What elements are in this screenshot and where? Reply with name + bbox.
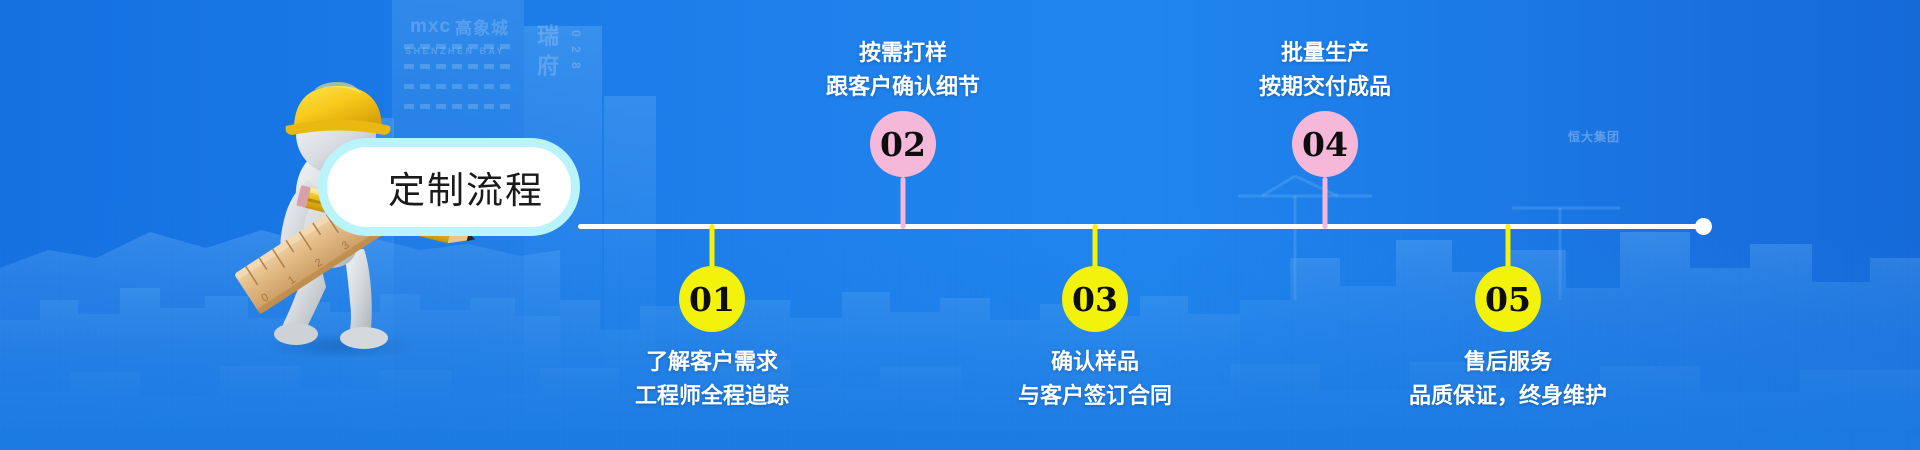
- step-caption: 批量生产按期交付成品: [1259, 37, 1391, 105]
- step-number-badge[interactable]: 03: [1062, 266, 1128, 332]
- step-caption: 确认样品与客户签订合同: [1018, 346, 1172, 414]
- city-texture-overlay: [0, 150, 1920, 450]
- timeline-end-marker: [1695, 218, 1712, 235]
- timeline-track: [578, 224, 1703, 229]
- tower-vertical-sign: 瑞 府: [533, 24, 559, 77]
- step-caption-line2: 跟客户确认细节: [826, 71, 980, 105]
- step-connector-stem: [710, 224, 715, 270]
- horizon-haze: [0, 240, 1920, 450]
- step-caption-line1: 了解客户需求: [635, 346, 789, 380]
- tower-vertical-sign-2: 0 2 8: [565, 30, 587, 72]
- step-connector-stem: [1323, 177, 1328, 229]
- step-caption-line1: 按需打样: [826, 37, 980, 71]
- svg-text:1: 1: [286, 274, 298, 287]
- svg-text:0: 0: [259, 291, 271, 304]
- step-number-badge[interactable]: 01: [679, 266, 745, 332]
- page-title: 定制流程: [388, 160, 544, 214]
- step-caption-line2: 与客户签订合同: [1018, 380, 1172, 414]
- step-caption-line2: 按期交付成品: [1259, 71, 1391, 105]
- step-number-badge[interactable]: 04: [1292, 111, 1358, 177]
- step-caption-line1: 确认样品: [1018, 346, 1172, 380]
- step-caption: 了解客户需求工程师全程追踪: [635, 346, 789, 414]
- building-logo-cn: 高象城: [455, 14, 509, 39]
- step-number-badge[interactable]: 05: [1475, 266, 1541, 332]
- step-caption-line1: 售后服务: [1409, 346, 1607, 380]
- building-logo-en: SHENZHEN BAY: [405, 46, 505, 56]
- step-caption: 按需打样跟客户确认细节: [826, 37, 980, 105]
- step-connector-stem: [1093, 224, 1098, 270]
- building-logo-mark: mxc: [410, 16, 451, 38]
- banner-stage: mxc 高象城 SHENZHEN BAY 瑞 府 0 2 8 恒大集团: [0, 0, 1920, 450]
- step-connector-stem: [901, 177, 906, 229]
- step-caption-line1: 批量生产: [1259, 37, 1391, 71]
- step-number-badge[interactable]: 02: [870, 111, 936, 177]
- step-caption: 售后服务品质保证，终身维护: [1409, 346, 1607, 414]
- right-building-sign: 恒大集团: [1568, 128, 1620, 145]
- step-caption-line2: 工程师全程追踪: [635, 380, 789, 414]
- svg-text:2: 2: [313, 256, 325, 269]
- section-title-pill: 定制流程: [318, 138, 580, 236]
- step-connector-stem: [1506, 224, 1511, 270]
- svg-text:3: 3: [340, 239, 352, 252]
- step-caption-line2: 品质保证，终身维护: [1409, 380, 1607, 414]
